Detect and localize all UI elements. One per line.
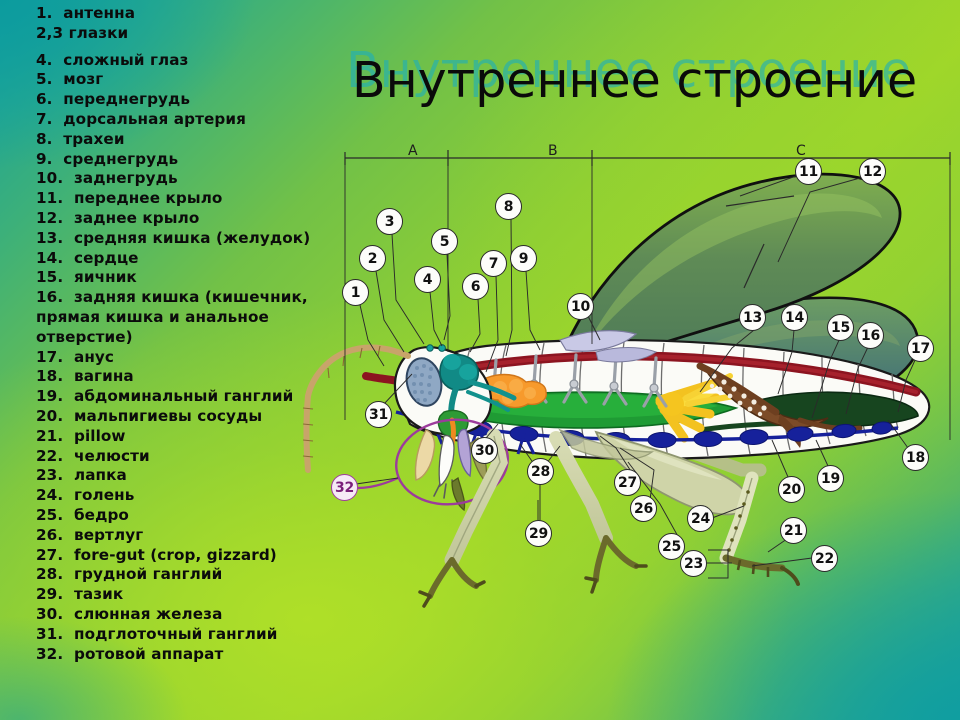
section-label-b: B <box>548 143 558 159</box>
legend-item: 27. fore-gut (crop, gizzard) <box>36 546 366 566</box>
callout-badge-16[interactable]: 16 <box>857 322 884 349</box>
callout-badge-3[interactable]: 3 <box>376 208 403 235</box>
legend-item: 30. слюнная железа <box>36 605 366 625</box>
legend-item: 28. грудной ганглий <box>36 565 366 585</box>
legend-item: 5. мозг <box>36 70 366 90</box>
callout-badge-7[interactable]: 7 <box>480 250 507 277</box>
callout-badge-27[interactable]: 27 <box>614 469 641 496</box>
legend-item: 15. яичник <box>36 268 366 288</box>
callout-badge-11[interactable]: 11 <box>795 158 822 185</box>
callout-badge-28[interactable]: 28 <box>527 458 554 485</box>
legend-item: 12. заднее крыло <box>36 209 366 229</box>
legend-item: 23. лапка <box>36 466 366 486</box>
callout-badge-25[interactable]: 25 <box>658 533 685 560</box>
legend-item: 13. средняя кишка (желудок) <box>36 229 366 249</box>
callout-badge-10[interactable]: 10 <box>567 293 594 320</box>
legend-item: 29. тазик <box>36 585 366 605</box>
callout-badge-4[interactable]: 4 <box>414 266 441 293</box>
callout-badge-17[interactable]: 17 <box>907 335 934 362</box>
legend-item: 32. ротовой аппарат <box>36 645 366 665</box>
legend-item: 11. переднее крыло <box>36 189 366 209</box>
callout-badge-30[interactable]: 30 <box>471 437 498 464</box>
callout-badge-14[interactable]: 14 <box>781 304 808 331</box>
callout-badge-24[interactable]: 24 <box>687 505 714 532</box>
legend-item: 21. pillow <box>36 427 366 447</box>
callout-badge-9[interactable]: 9 <box>510 245 537 272</box>
callout-badge-22[interactable]: 22 <box>811 545 838 572</box>
slide-title-text: Внутреннее строение <box>352 52 917 109</box>
legend-item: 24. голень <box>36 486 366 506</box>
callout-badge-19[interactable]: 19 <box>817 465 844 492</box>
legend-item: 16. задняя кишка (кишечник, прямая кишка… <box>36 288 366 347</box>
callout-badge-26[interactable]: 26 <box>630 495 657 522</box>
legend-item: 18. вагина <box>36 367 366 387</box>
legend-item: 31. подглоточный ганглий <box>36 625 366 645</box>
legend-item: 14. сердце <box>36 249 366 269</box>
legend-item: 1. антенна <box>36 4 366 24</box>
callout-badge-12[interactable]: 12 <box>859 158 886 185</box>
legend-item: 17. анус <box>36 348 366 368</box>
slide-root: 1. антенна2,3 глазки4. сложный глаз5. мо… <box>0 0 960 720</box>
legend-list: 1. антенна2,3 глазки4. сложный глаз5. мо… <box>36 4 366 664</box>
callout-badge-21[interactable]: 21 <box>780 517 807 544</box>
callout-badge-15[interactable]: 15 <box>827 314 854 341</box>
legend-item: 10. заднегрудь <box>36 169 366 189</box>
slide-title: Внутреннее строение Внутреннее строение <box>352 52 917 109</box>
legend-item: 22. челюсти <box>36 447 366 467</box>
callout-badge-6[interactable]: 6 <box>462 273 489 300</box>
legend-item: 2,3 глазки <box>36 24 366 44</box>
legend-item: 6. переднегрудь <box>36 90 366 110</box>
callout-badge-31[interactable]: 31 <box>365 401 392 428</box>
legend-item: 25. бедро <box>36 506 366 526</box>
section-label-a: A <box>408 143 418 159</box>
callout-badge-5[interactable]: 5 <box>431 228 458 255</box>
callout-badge-20[interactable]: 20 <box>778 476 805 503</box>
legend-item: 7. дорсальная артерия <box>36 110 366 130</box>
callout-badge-29[interactable]: 29 <box>525 520 552 547</box>
legend-item: 8. трахеи <box>36 130 366 150</box>
section-label-c: C <box>796 143 806 159</box>
callout-badge-8[interactable]: 8 <box>495 193 522 220</box>
legend-item: 19. абдоминальный ганглий <box>36 387 366 407</box>
callout-badge-13[interactable]: 13 <box>739 304 766 331</box>
callout-badge-23[interactable]: 23 <box>680 550 707 577</box>
legend-item: 9. среднегрудь <box>36 150 366 170</box>
legend-item: 20. мальпигиевы сосуды <box>36 407 366 427</box>
legend-item: 4. сложный глаз <box>36 51 366 71</box>
callout-badge-18[interactable]: 18 <box>902 444 929 471</box>
legend-item: 26. вертлуг <box>36 526 366 546</box>
